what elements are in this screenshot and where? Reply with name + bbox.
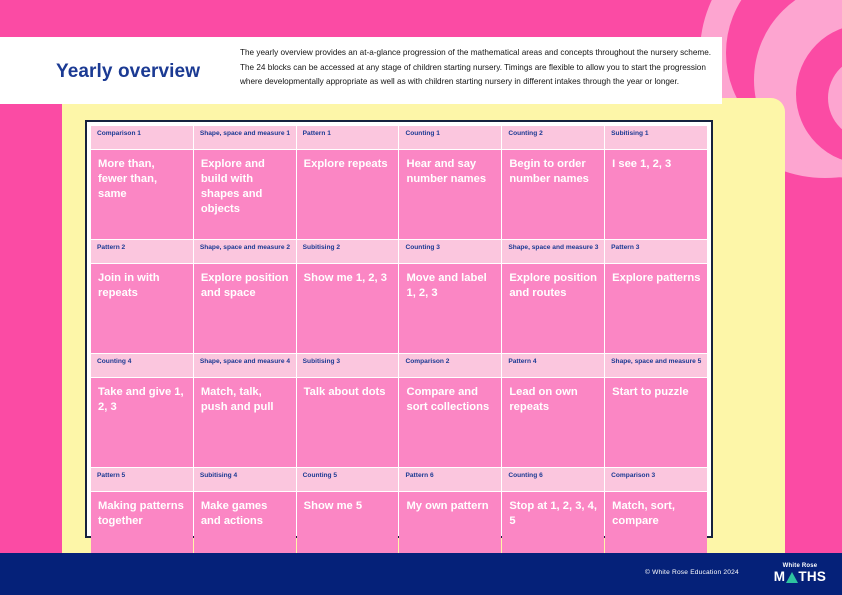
table-row: Pattern 2 Shape, space and measure 2 Sub… <box>91 240 707 263</box>
block-label: Shape, space and measure 2 <box>194 240 296 263</box>
white-rose-maths-logo: White Rose M THS <box>769 563 831 589</box>
block-title: Explore and build with shapes and object… <box>194 150 296 239</box>
overview-table-frame: Comparison 1 Shape, space and measure 1 … <box>85 120 713 538</box>
block-title: Explore position and space <box>194 264 296 353</box>
footer-bar: © White Rose Education 2024 <box>0 553 842 595</box>
block-label: Counting 6 <box>502 468 604 491</box>
block-title: Take and give 1, 2, 3 <box>91 378 193 467</box>
block-label: Counting 2 <box>502 126 604 149</box>
block-label: Pattern 3 <box>605 240 707 263</box>
block-title: Hear and say number names <box>399 150 501 239</box>
block-label: Pattern 6 <box>399 468 501 491</box>
block-label: Shape, space and measure 3 <box>502 240 604 263</box>
header-description: The yearly overview provides an at-a-gla… <box>240 37 722 90</box>
block-label: Pattern 5 <box>91 468 193 491</box>
block-title: Start to puzzle <box>605 378 707 467</box>
block-title: Explore repeats <box>297 150 399 239</box>
table-row: Take and give 1, 2, 3 Match, talk, push … <box>91 378 707 467</box>
block-title: Explore patterns <box>605 264 707 353</box>
block-label: Comparison 3 <box>605 468 707 491</box>
block-label: Comparison 2 <box>399 354 501 377</box>
block-title: Match, talk, push and pull <box>194 378 296 467</box>
table-row: Pattern 5 Subitising 4 Counting 5 Patter… <box>91 468 707 491</box>
block-label: Subitising 1 <box>605 126 707 149</box>
block-label: Pattern 2 <box>91 240 193 263</box>
block-label: Pattern 1 <box>297 126 399 149</box>
triangle-icon <box>786 572 798 583</box>
block-label: Subitising 4 <box>194 468 296 491</box>
table-row: Counting 4 Shape, space and measure 4 Su… <box>91 354 707 377</box>
block-title: Lead on own repeats <box>502 378 604 467</box>
block-label: Shape, space and measure 1 <box>194 126 296 149</box>
block-title: Join in with repeats <box>91 264 193 353</box>
block-title: Move and label 1, 2, 3 <box>399 264 501 353</box>
block-label: Subitising 3 <box>297 354 399 377</box>
logo-wordmark-bottom: M THS <box>769 570 831 584</box>
block-title: Explore position and routes <box>502 264 604 353</box>
logo-letter-m: M <box>774 570 786 584</box>
block-label: Pattern 4 <box>502 354 604 377</box>
block-label: Counting 5 <box>297 468 399 491</box>
table-row: Comparison 1 Shape, space and measure 1 … <box>91 126 707 149</box>
overview-table-body: Comparison 1 Shape, space and measure 1 … <box>91 126 707 581</box>
block-title: Begin to order number names <box>502 150 604 239</box>
block-label: Counting 1 <box>399 126 501 149</box>
left-accent-strip <box>0 104 38 553</box>
page-title: Yearly overview <box>0 37 240 83</box>
copyright-text: © White Rose Education 2024 <box>645 569 739 576</box>
block-label: Shape, space and measure 5 <box>605 354 707 377</box>
overview-table: Comparison 1 Shape, space and measure 1 … <box>90 125 708 582</box>
logo-letters-ths: THS <box>798 570 826 584</box>
block-title: More than, fewer than, same <box>91 150 193 239</box>
block-label: Shape, space and measure 4 <box>194 354 296 377</box>
block-title: Compare and sort collections <box>399 378 501 467</box>
block-title: Talk about dots <box>297 378 399 467</box>
block-label: Comparison 1 <box>91 126 193 149</box>
block-label: Counting 3 <box>399 240 501 263</box>
block-title: I see 1, 2, 3 <box>605 150 707 239</box>
table-row: More than, fewer than, same Explore and … <box>91 150 707 239</box>
header-panel: Yearly overview The yearly overview prov… <box>0 37 722 104</box>
table-row: Join in with repeats Explore position an… <box>91 264 707 353</box>
block-label: Subitising 2 <box>297 240 399 263</box>
block-title: Show me 1, 2, 3 <box>297 264 399 353</box>
block-label: Counting 4 <box>91 354 193 377</box>
